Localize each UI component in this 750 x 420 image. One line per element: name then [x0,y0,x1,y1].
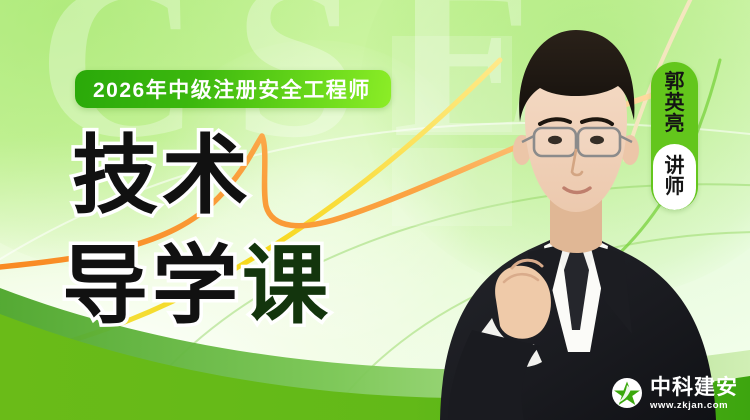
course-title-badge-label: 2026年中级注册安全工程师 [93,74,371,104]
teacher-role-char-0: 讲 [665,156,685,177]
teacher-name: 郭 英 亮 [651,72,698,135]
headline-line-2: 导学课 [62,243,332,329]
teacher-role-char-1: 师 [665,177,685,198]
headline-line-1: 技术 [72,133,252,219]
headline-line-2-head: 导学 [62,238,242,334]
brand-text: 中科建安 www.zkjan.com [650,377,738,411]
course-title-badge: 2026年中级注册安全工程师 [75,70,391,108]
teacher-name-char-2: 亮 [651,114,698,135]
headline-line-2-tail: 课 [242,238,332,334]
circle-star-emblem-icon [611,377,643,409]
brand-url: www.zkjan.com [650,401,738,411]
brand-logo: 中科建安 www.zkjan.com [611,377,738,411]
brand-name: 中科建安 [650,377,738,398]
teacher-role-pill: 讲 师 [653,144,696,210]
teacher-name-char-0: 郭 [651,72,698,93]
teacher-badge: 郭 英 亮 讲 师 [651,62,698,210]
teacher-name-char-1: 英 [651,93,698,114]
course-poster: CSE [0,0,750,420]
instructor-photo [400,0,750,420]
